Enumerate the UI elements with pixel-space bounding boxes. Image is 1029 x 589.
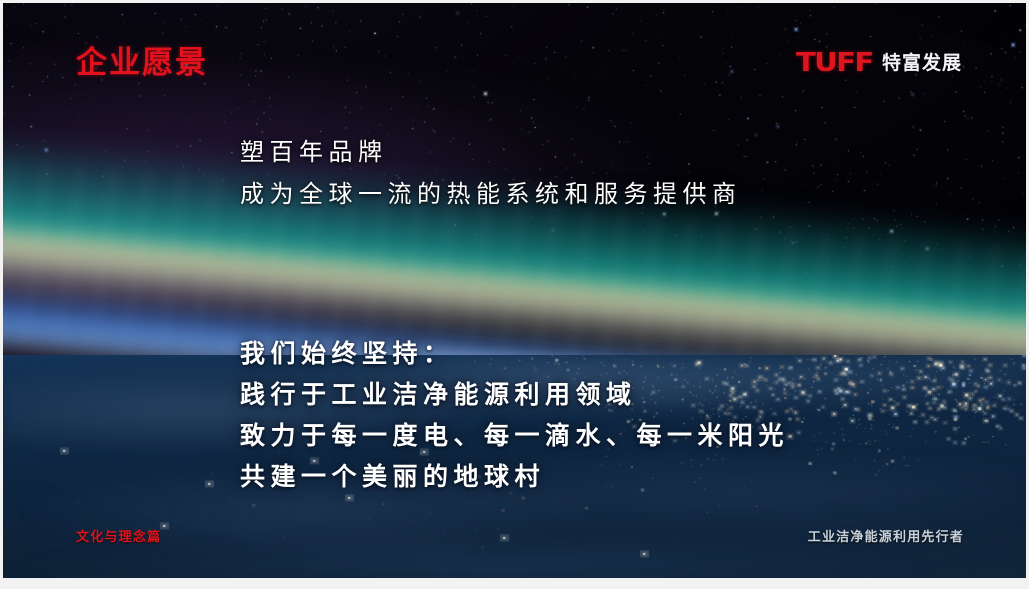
vision-secondary-line: 践行于工业洁净能源利用领域	[240, 374, 789, 415]
slide-content: 企业愿景 TUFF 特富发展 塑百年品牌 成为全球一流的热能系统和服务提供商 我…	[3, 3, 1026, 578]
vision-secondary-line: 共建一个美丽的地球村	[240, 456, 789, 497]
brand-logo: TUFF 特富发展	[796, 50, 962, 76]
footer-section-label: 文化与理念篇	[76, 526, 161, 545]
vision-secondary-line: 致力于每一度电、每一滴水、每一米阳光	[240, 415, 789, 456]
vision-primary-line: 成为全球一流的热能系统和服务提供商	[240, 173, 742, 215]
footer-tagline: 工业洁净能源利用先行者	[808, 526, 964, 545]
tuff-wordmark-logo: TUFF	[796, 50, 873, 76]
vision-secondary-block: 我们始终坚持： 践行于工业洁净能源利用领域 致力于每一度电、每一滴水、每一米阳光…	[240, 333, 789, 497]
brand-name-label: 特富发展	[882, 54, 962, 73]
vision-secondary-line: 我们始终坚持：	[240, 333, 789, 374]
page-title: 企业愿景	[76, 48, 208, 79]
slide-canvas: 企业愿景 TUFF 特富发展 塑百年品牌 成为全球一流的热能系统和服务提供商 我…	[3, 3, 1026, 578]
vision-primary-line: 塑百年品牌	[240, 131, 742, 173]
vision-primary-block: 塑百年品牌 成为全球一流的热能系统和服务提供商	[240, 131, 742, 215]
slide-frame: 企业愿景 TUFF 特富发展 塑百年品牌 成为全球一流的热能系统和服务提供商 我…	[0, 0, 1029, 589]
